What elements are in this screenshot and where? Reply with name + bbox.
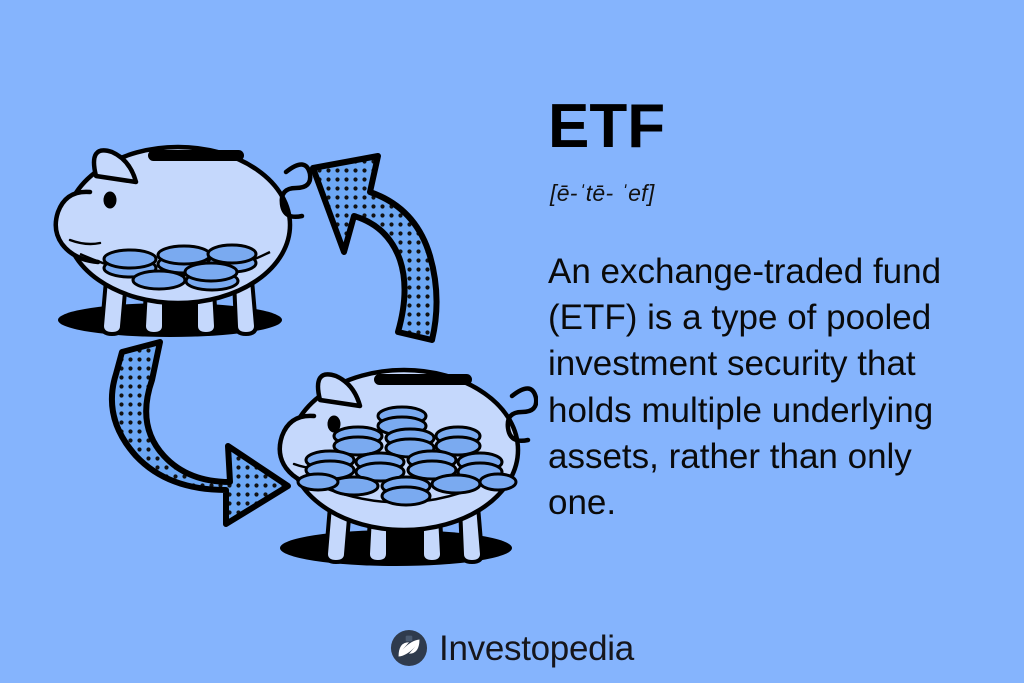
- definition-card-image: ETF [ē-ˈtē- ˈef] An exchange-traded fund…: [0, 0, 1024, 683]
- piggy-bank-bottom: [280, 370, 536, 566]
- pig-eye: [104, 192, 117, 209]
- definition-text-column: ETF [ē-ˈtē- ˈef] An exchange-traded fund…: [548, 96, 998, 526]
- piggy-bank-top: [56, 147, 310, 337]
- definition-text: An exchange-traded fund (ETF) is a type …: [548, 249, 988, 526]
- coin-slot: [374, 374, 472, 385]
- pronunciation-text: [ē-ˈtē- ˈef]: [550, 180, 998, 207]
- coin-slot: [148, 150, 244, 161]
- illustration-two-piggy-banks: [18, 130, 538, 570]
- arrow-bottom-left-down-right: [112, 342, 288, 524]
- arrow-top-right-up-left: [313, 156, 437, 340]
- investopedia-wordmark: Investopedia: [439, 631, 634, 666]
- footer-branding: Investopedia: [0, 629, 1024, 667]
- term-title: ETF: [548, 96, 998, 158]
- investopedia-swoosh-icon: [390, 629, 428, 667]
